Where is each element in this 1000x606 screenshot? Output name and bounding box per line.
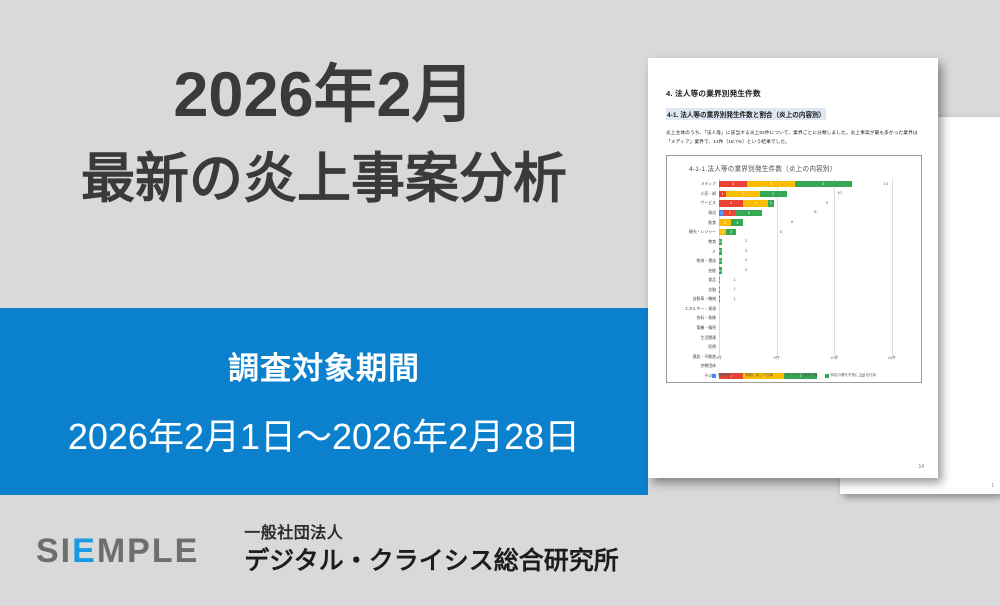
chart-bar-segment: 1 (719, 287, 720, 293)
chart-category-label: サービス (673, 199, 719, 209)
organization-name: デジタル・クライシス総合研究所 (244, 547, 619, 576)
chart-bar-segment: 4 (719, 200, 743, 206)
legend-color-swatch (739, 374, 743, 378)
chart-bar-segment: 2 (719, 229, 726, 235)
chart-category-label: 金融 (673, 285, 719, 295)
chart-value-axis: 0件5件10件15件 (719, 356, 915, 366)
chart-bar-segment: 5 (747, 181, 794, 187)
chart-bar-segment: 3 (731, 219, 743, 225)
chart-bar-row: 112 (719, 266, 915, 276)
chart-bar-total-label: 1 (734, 277, 736, 282)
chart-bar-row: 112 (719, 256, 915, 266)
chart-legend-item[interactable]: サービス・商品不備 (780, 373, 818, 378)
document-subheading: 4-1. 法人等の業界別発生件数と割合（炎上の内容別） (666, 108, 826, 120)
chart-bar-segment: 1 (720, 267, 721, 273)
chart-axis-tick: 10件 (830, 356, 838, 361)
chart-category-label: IT (673, 247, 719, 257)
logo-text-accent: E (72, 532, 97, 570)
chart-category-label: 観光・レジャー (673, 227, 719, 237)
survey-period-range: 2026年2月1日〜2026年2月28日 (68, 408, 580, 460)
chart-bar-total-label: 1 (734, 286, 736, 291)
chart-bar-total-label: 2 (745, 238, 747, 243)
chart-bar-row (719, 342, 915, 352)
legend-label: 特定の層を不快にさせる行為 (831, 373, 876, 378)
chart-bar-row: 235 (719, 227, 915, 237)
chart-category-axis: メディア小売・卸サービス政治飲食観光・レジャー教育IT物流・運送芸能食品金融自動… (673, 179, 719, 355)
chart-category-label: 電機・精密 (673, 323, 719, 333)
back-page-number: 1 (991, 483, 994, 489)
chart-bar-row (719, 333, 915, 343)
chart-bar-segment: 4 (743, 200, 767, 206)
legend-label: 規範に反した行為 (745, 373, 773, 378)
chart-bar-row: 11 (719, 275, 915, 285)
chart-bar-total-label: 6 (791, 219, 793, 224)
chart-category-label: 小売・卸 (673, 189, 719, 199)
chart-bar-row: 112 (719, 247, 915, 257)
document-pages-area: シ ニ後 り ヨ目 に象 1 4. 法人等の業界別発生件数 4-1. 法人等の業… (640, 0, 1000, 606)
chart-category-label: メディア (673, 179, 719, 189)
chart-category-label: 政治 (673, 208, 719, 218)
logo-text-part2: MPLE (97, 532, 199, 570)
chart-bar-row: 4419 (719, 199, 915, 209)
chart-axis-tick: 15件 (888, 356, 896, 361)
chart-bar-segment: 5 (735, 210, 762, 216)
chart-bar-row: 1258 (719, 208, 915, 218)
chart-bar-segment: 1 (768, 200, 774, 206)
organization-type: 一般社団法人 (244, 525, 619, 543)
chart-bar-total-label: 2 (745, 257, 747, 262)
legend-label: サービス・商品不備 (786, 373, 818, 378)
chart-bar-segment: 1 (719, 191, 726, 197)
chart-category-label: 教育 (673, 237, 719, 247)
chart-bar-segment: 1 (720, 258, 721, 264)
page-number: 14 (918, 464, 924, 470)
chart-bar-segment: 6 (795, 181, 852, 187)
chart-bar-total-label: 5 (780, 229, 782, 234)
chart-bar-row (719, 304, 915, 314)
chart-category-label: 物流・運送 (673, 256, 719, 266)
chart-axis-tick: 5件 (774, 356, 780, 361)
chart-category-label: 生活関連 (673, 333, 719, 343)
chart-category-label: エネルギー・資源 (673, 304, 719, 314)
chart-bar-row: 35614 (719, 179, 915, 189)
chart-bar-segment: 5 (726, 191, 760, 197)
chart-category-label: 医療 (673, 342, 719, 352)
chart-bar-segment: 2 (724, 210, 735, 216)
chart-bar-row: 11 (719, 295, 915, 305)
foreground-document-page: 4. 法人等の業界別発生件数 4-1. 法人等の業界別発生件数と割合（炎上の内容… (648, 58, 938, 478)
chart-bar-row: 336 (719, 218, 915, 228)
chart-category-label: 芸能 (673, 266, 719, 276)
legend-color-swatch (712, 374, 716, 378)
chart-bar-row: 11 (719, 285, 915, 295)
chart-bar-row (719, 314, 915, 324)
document-heading: 4. 法人等の業界別発生件数 (666, 88, 922, 99)
survey-period-banner: 調査対象期間 2026年2月1日〜2026年2月28日 (0, 308, 648, 495)
chart-bar-segment: 1 (720, 248, 721, 254)
chart-bar-total-label: 1 (734, 296, 736, 301)
siemple-logo: SIEMPLE (36, 534, 199, 568)
chart-category-label: 衣料・装飾 (673, 314, 719, 324)
chart-bar-segment: 1 (720, 239, 721, 245)
chart-bar-total-label: 2 (745, 248, 747, 253)
chart-category-label: 自動車・機械 (673, 295, 719, 305)
chart-title: 4-1-1.法人等の業界別発生件数（炎上の内容別） (673, 163, 915, 173)
chart-bar-total-label: 8 (814, 209, 816, 214)
chart-category-label: 建設・不動産 (673, 352, 719, 362)
page-subtitle: 最新の炎上事案分析 (81, 150, 567, 209)
chart-bar-segment: 3 (719, 219, 731, 225)
chart-container: 4-1-1.法人等の業界別発生件数（炎上の内容別） メディア小売・卸サービス政治… (666, 155, 922, 383)
legend-label: 情報漏洩 (718, 373, 732, 378)
survey-period-label: 調査対象期間 (228, 343, 420, 388)
chart-bar-segment: 4 (760, 191, 787, 197)
cover-title-block: 2026年2月 最新の炎上事案分析 (0, 62, 648, 302)
document-body-text: 炎上主体のうち、「法人等」に該当する炎上82件について、業界ごとに分類しました。… (666, 129, 922, 146)
chart-bar-segment: 3 (719, 181, 747, 187)
chart-plot-area: メディア小売・卸サービス政治飲食観光・レジャー教育IT物流・運送芸能食品金融自動… (673, 179, 915, 355)
legend-color-swatch (780, 374, 784, 378)
chart-bar-total-label: 9 (826, 200, 828, 205)
chart-bars-area: 3561415410441912583362351121121121121111… (719, 179, 915, 355)
page-title: 2026年2月 (173, 62, 474, 128)
organization-block: 一般社団法人 デジタル・クライシス総合研究所 (244, 525, 619, 575)
chart-bar-segment: 3 (726, 229, 736, 235)
chart-legend-item[interactable]: 特定の層を不快にさせる行為 (825, 373, 876, 378)
logo-text-part1: SI (36, 532, 72, 570)
footer-bar: SIEMPLE 一般社団法人 デジタル・クライシス総合研究所 (0, 495, 648, 606)
chart-bar-total-label: 14 (883, 181, 887, 186)
chart-legend: 情報漏洩規範に反した行為サービス・商品不備特定の層を不快にさせる行為 (667, 373, 921, 378)
chart-bar-row: 15410 (719, 189, 915, 199)
chart-bar-row (719, 323, 915, 333)
chart-category-label: 飲食 (673, 218, 719, 228)
chart-legend-item[interactable]: 規範に反した行為 (739, 373, 773, 378)
chart-bar-segment: 1 (719, 277, 720, 283)
chart-bar-total-label: 2 (745, 267, 747, 272)
chart-bar-total-label: 10 (837, 190, 841, 195)
chart-category-label: 宗教団体 (673, 362, 719, 372)
legend-color-swatch (825, 374, 829, 378)
chart-category-label: 食品 (673, 275, 719, 285)
chart-bar-segment: 1 (719, 296, 720, 302)
chart-axis-tick: 0件 (716, 356, 722, 361)
chart-legend-item[interactable]: 情報漏洩 (712, 373, 732, 378)
chart-bar-row: 112 (719, 237, 915, 247)
